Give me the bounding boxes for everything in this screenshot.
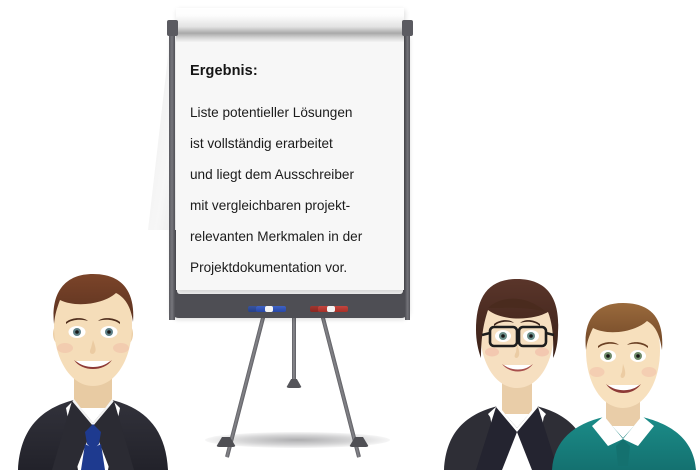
flipchart-line-2: ist vollständig erarbeitet — [190, 128, 402, 159]
blue-marker-band — [265, 306, 273, 312]
flipchart-clip-left — [167, 20, 178, 36]
flipchart-paper-curl — [176, 8, 404, 42]
flipchart-line-4: mit vergleichbaren projekt- — [190, 190, 402, 221]
flipchart-line-5: relevanten Merkmalen in der — [190, 221, 402, 252]
young-man-right-avatar — [548, 300, 700, 470]
flipchart-line-3: und liegt dem Ausschreiber — [190, 159, 402, 190]
easel-leg-center — [292, 315, 296, 383]
flipchart-line-1: Liste potentieller Lösungen — [190, 97, 402, 128]
flipchart-heading: Ergebnis: — [190, 64, 402, 79]
red-marker-band — [327, 306, 335, 312]
easel-foot-center — [286, 379, 302, 388]
businessman-left-avatar — [8, 268, 178, 470]
flipchart-clip-right — [402, 20, 413, 36]
flipchart-line-6: Projektdokumentation vor. — [190, 252, 402, 283]
flipchart-support-bar-right — [405, 22, 410, 320]
scene-root: Ergebnis: Liste potentieller Lösungen is… — [0, 0, 700, 470]
flipchart-text-block: Ergebnis: Liste potentieller Lösungen is… — [190, 64, 402, 283]
